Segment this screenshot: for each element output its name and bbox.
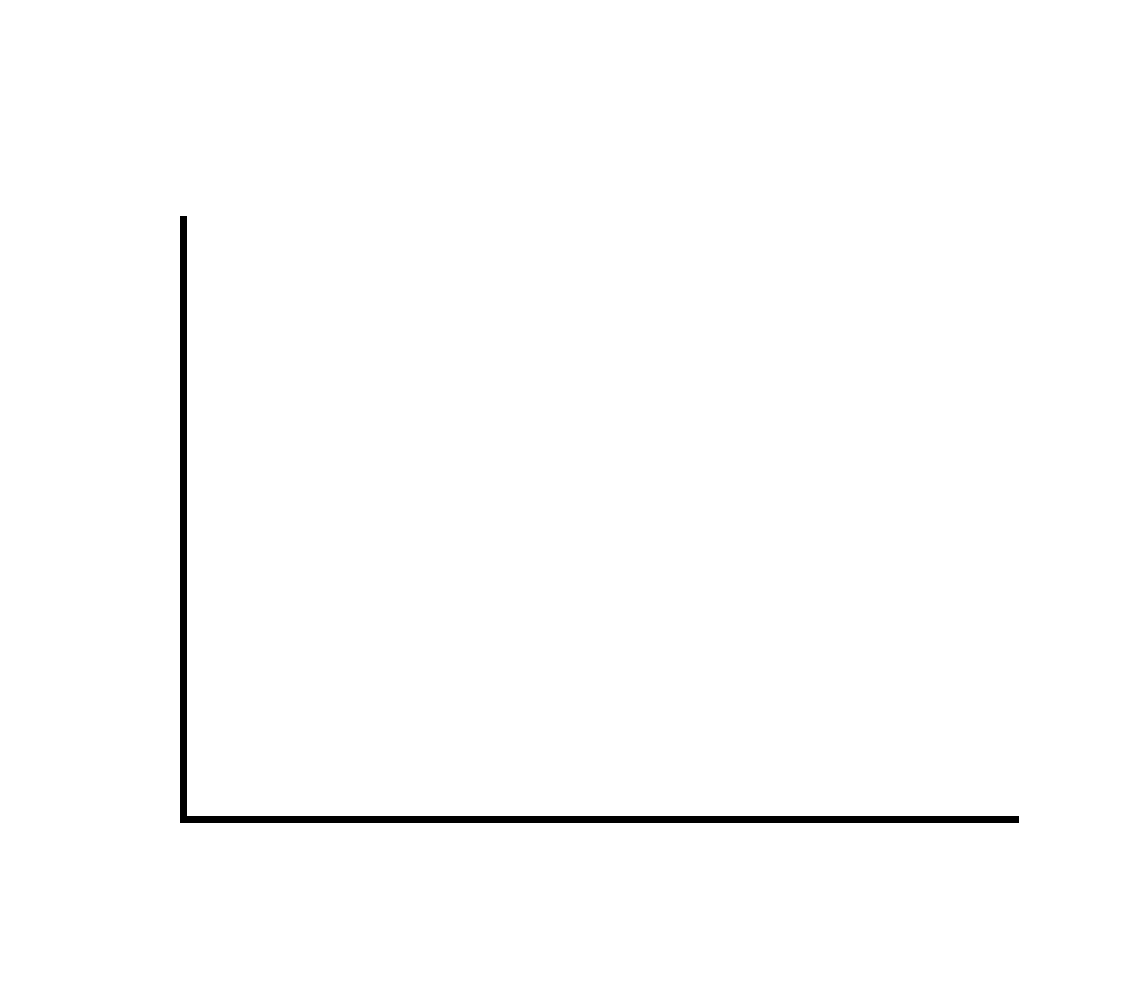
y-axis-line — [180, 216, 187, 823]
chart-figure — [0, 0, 1140, 990]
y-axis-title — [44, 102, 92, 742]
plot-area — [0, 0, 1140, 990]
x-axis-line — [180, 816, 1019, 823]
